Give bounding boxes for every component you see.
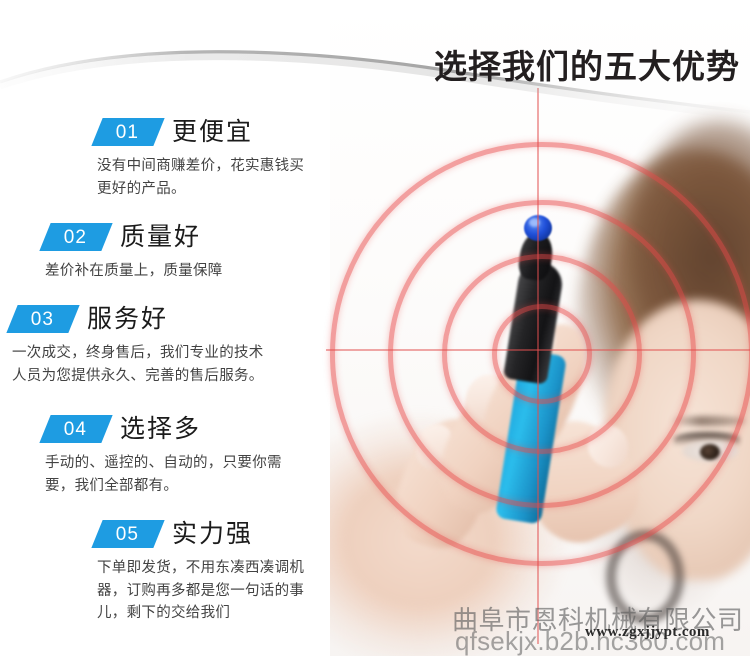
- feature-header: 01 更便宜: [97, 116, 304, 148]
- feature-description: 差价补在质量上，质量保障: [45, 260, 223, 283]
- feature-item-02: 02 质量好 差价补在质量上，质量保障: [45, 221, 223, 283]
- feature-number-badge: 04: [39, 415, 112, 443]
- eyebrow-shape: [670, 416, 746, 426]
- feature-description-line: 没有中间商赚差价，花实惠钱买: [97, 155, 304, 178]
- feature-description-line: 手动的、遥控的、自动的，只要你需: [45, 452, 282, 475]
- feature-description-line: 更好的产品。: [97, 178, 304, 201]
- feature-number-label: 03: [31, 310, 54, 329]
- feature-item-05: 05 实力强 下单即发货，不用东凑西凑调机 器，订购再多都是您一句话的事 儿，剩…: [97, 518, 304, 625]
- feature-list: 01 更便宜 没有中间商赚差价，花实惠钱买 更好的产品。 02 质量好 差价补在…: [0, 0, 360, 656]
- feature-item-04: 04 选择多 手动的、遥控的、自动的，只要你需 要，我们全部都有。: [45, 413, 282, 497]
- feature-title: 服务好: [87, 307, 168, 332]
- feature-number-label: 05: [116, 525, 139, 544]
- feature-description: 手动的、遥控的、自动的，只要你需 要，我们全部都有。: [45, 452, 282, 497]
- feature-description-line: 下单即发货，不用东凑西凑调机: [97, 557, 304, 580]
- feature-description-line: 儿，剩下的交给我们: [97, 602, 304, 625]
- product-hero-photo: [330, 0, 750, 656]
- page-title: 选择我们的五大优势: [434, 40, 740, 88]
- feature-header: 05 实力强: [97, 518, 304, 550]
- feature-title: 实力强: [172, 522, 253, 547]
- feature-number-badge: 05: [91, 520, 164, 548]
- feature-description-line: 人员为您提供永久、完善的售后服务。: [12, 365, 264, 388]
- feature-description-line: 器，订购再多都是您一句话的事: [97, 580, 304, 603]
- feature-description-line: 差价补在质量上，质量保障: [45, 260, 223, 283]
- feature-item-03: 03 服务好 一次成交，终身售后，我们专业的技术 人员为您提供永久、完善的售后服…: [12, 303, 264, 387]
- feature-item-01: 01 更便宜 没有中间商赚差价，花实惠钱买 更好的产品。: [97, 116, 304, 200]
- feature-title: 质量好: [120, 225, 201, 250]
- feature-description-line: 一次成交，终身售后，我们专业的技术: [12, 342, 264, 365]
- feature-header: 02 质量好: [45, 221, 223, 253]
- feature-number-label: 02: [64, 228, 87, 247]
- feature-number-badge: 03: [6, 305, 79, 333]
- feature-description: 一次成交，终身售后，我们专业的技术 人员为您提供永久、完善的售后服务。: [12, 342, 264, 387]
- feature-description: 没有中间商赚差价，花实惠钱买 更好的产品。: [97, 155, 304, 200]
- feature-header: 03 服务好: [12, 303, 264, 335]
- feature-title: 更便宜: [172, 120, 253, 145]
- feature-number-badge: 01: [91, 118, 164, 146]
- feature-number-label: 01: [116, 123, 139, 142]
- pupil-shape: [700, 444, 720, 460]
- pen-tip-highlight: [529, 218, 540, 227]
- feature-header: 04 选择多: [45, 413, 282, 445]
- feature-number-label: 04: [64, 420, 87, 439]
- watermark-url: www.zgxjjypt.com: [585, 624, 710, 641]
- feature-description: 下单即发货，不用东凑西凑调机 器，订购再多都是您一句话的事 儿，剩下的交给我们: [97, 557, 304, 625]
- feature-number-badge: 02: [39, 223, 112, 251]
- feature-description-line: 要，我们全部都有。: [45, 475, 282, 498]
- feature-title: 选择多: [120, 417, 201, 442]
- promo-banner: 选择我们的五大优势 01 更便宜 没有中间商赚差价，花实惠钱买 更好的产品。 0…: [0, 0, 750, 656]
